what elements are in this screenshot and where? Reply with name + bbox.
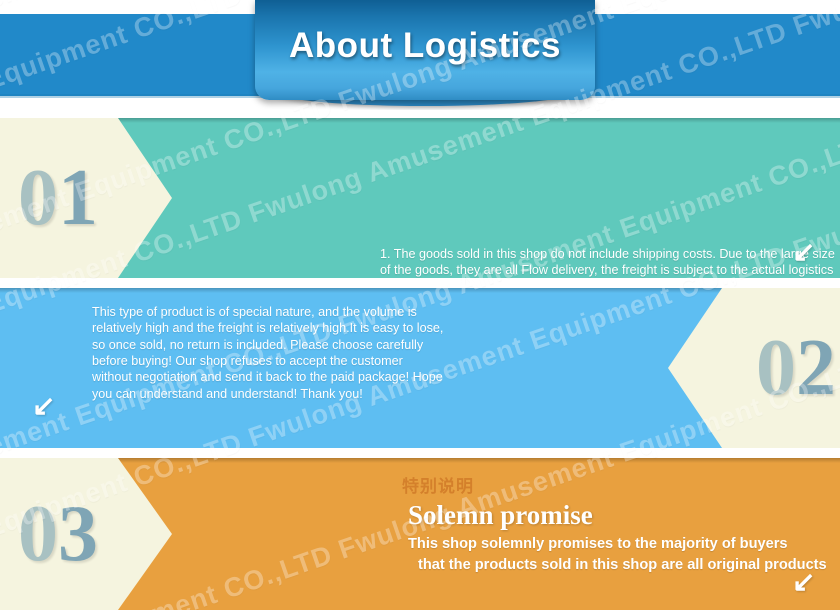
page-title: About Logistics (255, 26, 595, 66)
special-note-line-2: that the products sold in this shop are … (408, 555, 833, 576)
section-3-number-zero: 0 (18, 490, 58, 578)
section-about-delivery: 01 About delivery 1. The goods sold in t… (0, 118, 840, 278)
section-changing-or-refunding: 02 changing or refunding This type of pr… (0, 288, 840, 448)
header-banner: About Logistics (0, 0, 840, 110)
down-left-arrow-icon: ↙ (32, 392, 55, 420)
section-1-number-digit: 1 (58, 154, 98, 242)
down-left-arrow-icon: ↙ (792, 238, 815, 266)
section-1-number: 01 (18, 158, 98, 238)
special-note-chinese-label: 特别说明 (402, 472, 474, 497)
special-note-body: This shop solemnly promises to the major… (408, 534, 833, 575)
section-1-paragraph-1: 1. The goods sold in this shop do not in… (380, 246, 835, 278)
special-note-title: Solemn promise (408, 500, 593, 531)
section-2-number: 02 (756, 328, 836, 408)
section-2-body: This type of product is of special natur… (92, 304, 444, 402)
section-2-number-digit: 2 (796, 324, 836, 412)
special-note-line-1: This shop solemnly promises to the major… (408, 534, 833, 555)
section-3-number-digit: 3 (58, 490, 98, 578)
infographic-page: About Logistics 01 About delivery 1. The… (0, 0, 840, 610)
section-2-paragraph-1: This type of product is of special natur… (92, 304, 444, 402)
section-2-top-shadow (0, 288, 840, 293)
section-1-top-shadow (0, 118, 840, 123)
section-1-body: 1. The goods sold in this shop do not in… (380, 246, 835, 278)
section-1-number-zero: 0 (18, 154, 58, 242)
section-3-number: 03 (18, 494, 98, 574)
section-2-number-zero: 0 (756, 324, 796, 412)
section-3-top-shadow (0, 458, 840, 463)
